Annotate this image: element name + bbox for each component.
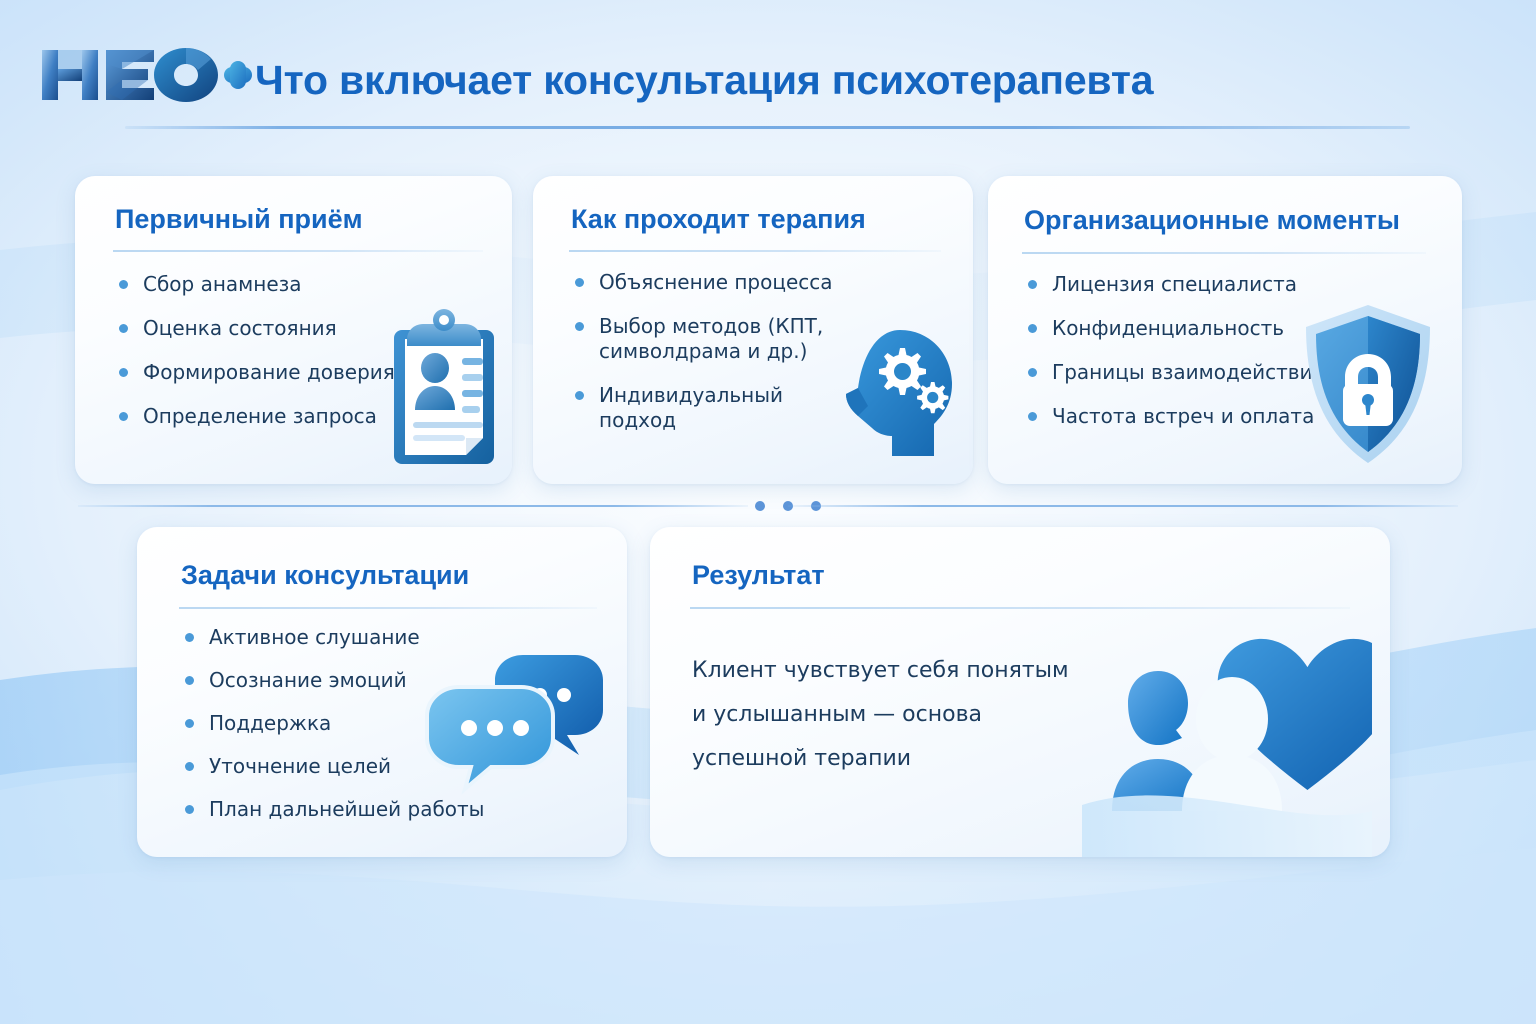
card-primary-intake[interactable]: Первичный приём Сбор анамнеза Оценка сос… [75,176,512,484]
list-item: Сбор анамнеза [117,272,447,297]
divider-line-left [78,505,748,507]
card-bullet-list: Лицензия специалиста Конфиденциальность … [1026,272,1326,448]
section-divider [0,497,1536,517]
list-item: Индивидуальный подход [573,383,848,433]
list-item: Объяснение процесса [573,270,848,295]
infographic-root: Что включает консультация психотерапевта… [0,0,1536,1024]
page-header: Что включает консультация психотерапевта [0,0,1536,140]
card-therapy-process[interactable]: Как проходит терапия Объяснение процесса… [533,176,973,484]
list-item: Границы взаимодействия [1026,360,1326,385]
list-item: Частота встреч и оплата [1026,404,1326,429]
heart-people-icon [1082,615,1372,857]
page-title: Что включает консультация психотерапевта [255,57,1153,104]
card-title-divider [179,607,597,609]
list-item: Выбор методов (КПТ, символдрама и др.) [573,314,848,364]
list-item: Лицензия специалиста [1026,272,1326,297]
head-gears-icon [838,324,963,469]
header-divider [125,126,1410,129]
three-dots-divider-icon [755,501,765,511]
list-item: Конфиденциальность [1026,316,1326,341]
card-title-divider [113,250,483,252]
result-line: и услышанным — основа [692,693,1112,737]
card-bullet-list: Объяснение процесса Выбор методов (КПТ, … [573,270,848,452]
card-title: Результат [692,560,825,591]
result-line: Клиент чувствует себя понятым [692,649,1112,693]
card-organizational[interactable]: Организационные моменты Лицензия специал… [988,176,1462,484]
card-title: Как проходит терапия [571,204,866,235]
result-body: Клиент чувствует себя понятым и услышанн… [692,649,1112,781]
clipboard-patient-icon [380,306,510,474]
card-title: Первичный приём [115,204,363,235]
divider-line-right [788,505,1458,507]
card-title-divider [569,250,941,252]
card-title: Задачи консультации [181,560,469,591]
result-line: успешной терапии [692,737,1112,781]
card-title: Организационные моменты [1024,205,1400,236]
card-title-divider [690,607,1350,609]
card-title-divider [1022,252,1426,254]
card-result[interactable]: Результат Клиент чувствует себя понятым … [650,527,1390,857]
shield-lock-icon [1298,302,1438,467]
card-consultation-tasks[interactable]: Задачи консультации Активное слушание Ос… [137,527,627,857]
neo-plus-logo-icon [38,44,253,106]
speech-bubbles-icon [417,645,607,805]
